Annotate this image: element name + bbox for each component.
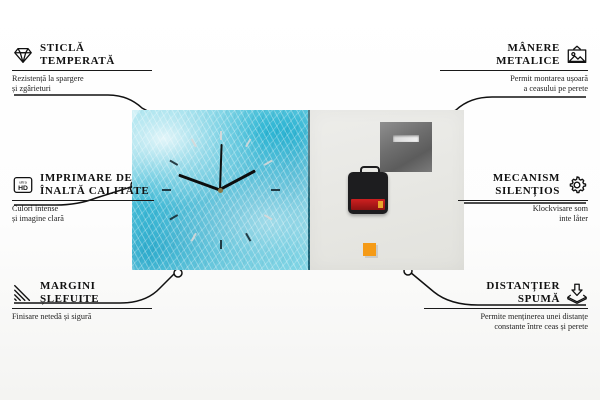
clock-tick <box>220 130 222 190</box>
callout-divider <box>458 200 588 201</box>
clock-tick <box>220 138 252 191</box>
callout-subtitle: Permit montarea ușoară a ceasului pe per… <box>440 74 588 94</box>
callout-title: MÂNERE METALICE <box>496 42 560 67</box>
gear-icon <box>566 174 588 196</box>
callout-title: MARGINI ȘLEFUITE <box>40 280 99 305</box>
clock-tick <box>221 189 281 191</box>
clock-face-panel <box>132 110 310 270</box>
clock-tick <box>220 190 222 250</box>
callout-subtitle: Finisare netedă și sigură <box>12 312 152 322</box>
hanger-slot <box>393 135 419 142</box>
clock-dial <box>132 110 308 270</box>
clock-tick <box>169 159 222 191</box>
down-arrow-stack-icon <box>566 282 588 304</box>
clock-back-panel <box>310 110 464 270</box>
clock-tick <box>169 189 222 221</box>
svg-text:HD: HD <box>18 184 28 191</box>
callout-print-quality: ultra HD IMPRIMARE DE ÎNALTĂ CALITATE Cu… <box>12 172 154 224</box>
callout-divider <box>12 70 152 71</box>
callout-divider <box>424 308 588 309</box>
infographic-canvas: STICLĂ TEMPERATĂ Rezistență la spargere … <box>0 0 600 400</box>
clock-mechanism-part <box>348 172 388 214</box>
clock-tick <box>221 189 274 221</box>
callout-silent-mechanism: MECANISM SILENȚIOS Klockvisare som inte … <box>458 172 588 224</box>
picture-hanger-icon <box>566 44 588 66</box>
diamond-icon <box>12 44 34 66</box>
callout-divider <box>440 70 588 71</box>
callout-polished-edges: MARGINI ȘLEFUITE Finisare netedă și sigu… <box>12 280 152 322</box>
callout-subtitle: Culori intense și imagine clară <box>12 204 154 224</box>
connector-dot-polished-edges <box>174 269 182 277</box>
callout-title: STICLĂ TEMPERATĂ <box>40 42 115 67</box>
callout-header: STICLĂ TEMPERATĂ <box>12 42 152 67</box>
battery-part <box>351 199 385 210</box>
foam-spacer-part <box>363 243 376 256</box>
diagonal-lines-icon <box>12 282 34 304</box>
clock-tick <box>221 159 274 191</box>
callout-divider <box>12 200 154 201</box>
clock-hour-hand <box>219 170 256 192</box>
callout-title: IMPRIMARE DE ÎNALTĂ CALITATE <box>40 172 149 197</box>
callout-title: DISTANȚIER SPUMĂ <box>486 280 560 305</box>
callout-tempered-glass: STICLĂ TEMPERATĂ Rezistență la spargere … <box>12 42 152 94</box>
clock-center-cap <box>218 188 223 193</box>
clock-second-hand <box>219 144 223 190</box>
callout-metal-handles: MÂNERE METALICE Permit montarea ușoară a… <box>440 42 588 94</box>
callout-header: DISTANȚIER SPUMĂ <box>424 280 588 305</box>
clock-tick <box>190 138 222 191</box>
mechanism-bail <box>360 166 380 177</box>
callout-subtitle: Rezistență la spargere și zgârieturi <box>12 74 152 94</box>
metal-hanger-part <box>380 122 432 172</box>
callout-header: MÂNERE METALICE <box>440 42 588 67</box>
ultra-hd-icon: ultra HD <box>12 174 34 196</box>
callout-header: ultra HD IMPRIMARE DE ÎNALTĂ CALITATE <box>12 172 154 197</box>
clock-minute-hand <box>178 174 220 191</box>
clock-tick <box>220 190 252 243</box>
clock-tick <box>161 189 221 191</box>
callout-foam-spacer: DISTANȚIER SPUMĂ Permite menținerea unei… <box>424 280 588 332</box>
callout-subtitle: Permite menținerea unei distanțe constan… <box>424 312 588 332</box>
callout-header: MECANISM SILENȚIOS <box>458 172 588 197</box>
callout-header: MARGINI ȘLEFUITE <box>12 280 152 305</box>
callout-title: MECANISM SILENȚIOS <box>493 172 560 197</box>
clock-tick <box>190 190 222 243</box>
callout-subtitle: Klockvisare som inte låter <box>458 204 588 224</box>
product-image <box>132 110 464 270</box>
callout-divider <box>12 308 152 309</box>
